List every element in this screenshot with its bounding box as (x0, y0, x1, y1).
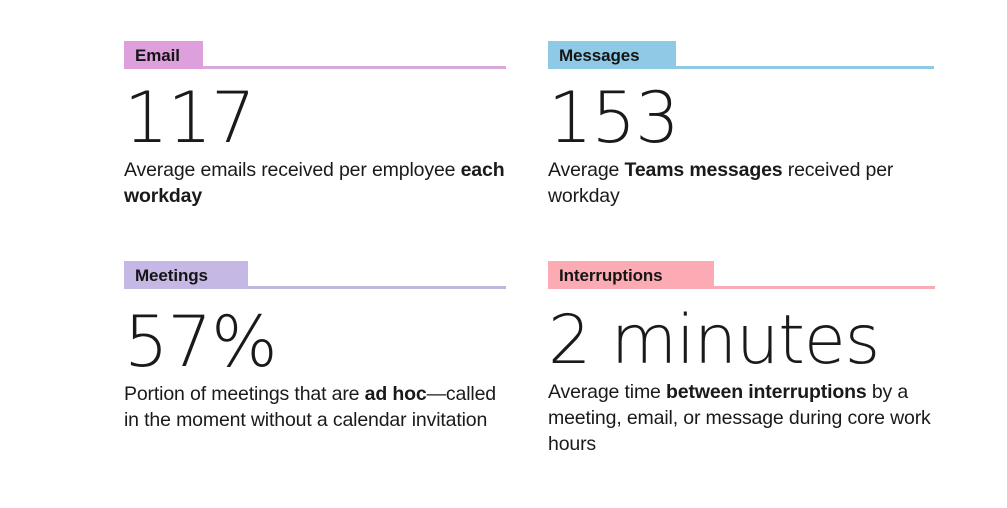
stat-description-interruptions: Average time between interruptions by a … (548, 379, 935, 457)
stat-number-row-meetings: 57% (124, 307, 506, 377)
stat-desc-row-email: Average emails received per employee eac… (124, 157, 506, 209)
category-chip-messages: Messages (548, 41, 676, 69)
panel-header-email: Email (124, 41, 506, 69)
stat-desc-row-meetings: Portion of meetings that are ad hoc—call… (124, 381, 506, 433)
stat-panel-interruptions: Interruptions 2 minutes Average time bet… (548, 261, 935, 457)
stat-number-messages: 153 (548, 83, 934, 153)
stat-number-meetings: 57% (124, 307, 506, 377)
stat-description-email: Average emails received per employee eac… (124, 157, 506, 209)
stat-number-row-messages: 153 (548, 83, 934, 153)
stat-desc-row-interruptions: Average time between interruptions by a … (548, 379, 935, 457)
panel-header-messages: Messages (548, 41, 934, 69)
infographic-board: Email 117 Average emails received per em… (0, 0, 1007, 508)
stat-number-email: 117 (124, 83, 506, 153)
stat-panel-meetings: Meetings 57% Portion of meetings that ar… (124, 261, 506, 433)
stat-number-row-email: 117 (124, 83, 506, 153)
stat-number-row-interruptions: 2 minutes (548, 307, 935, 375)
stat-description-messages: Average Teams messages received per work… (548, 157, 934, 209)
panel-header-meetings: Meetings (124, 261, 506, 289)
stat-panel-email: Email 117 Average emails received per em… (124, 41, 506, 209)
category-label-email: Email (135, 47, 180, 64)
category-chip-meetings: Meetings (124, 261, 248, 289)
stat-description-meetings: Portion of meetings that are ad hoc—call… (124, 381, 506, 433)
panel-header-interruptions: Interruptions (548, 261, 935, 289)
category-chip-interruptions: Interruptions (548, 261, 714, 289)
category-label-interruptions: Interruptions (559, 267, 663, 284)
category-label-messages: Messages (559, 47, 639, 64)
category-label-meetings: Meetings (135, 267, 208, 284)
stat-number-interruptions: 2 minutes (548, 307, 935, 375)
stat-panel-messages: Messages 153 Average Teams messages rece… (548, 41, 934, 209)
category-chip-email: Email (124, 41, 203, 69)
stat-desc-row-messages: Average Teams messages received per work… (548, 157, 934, 209)
